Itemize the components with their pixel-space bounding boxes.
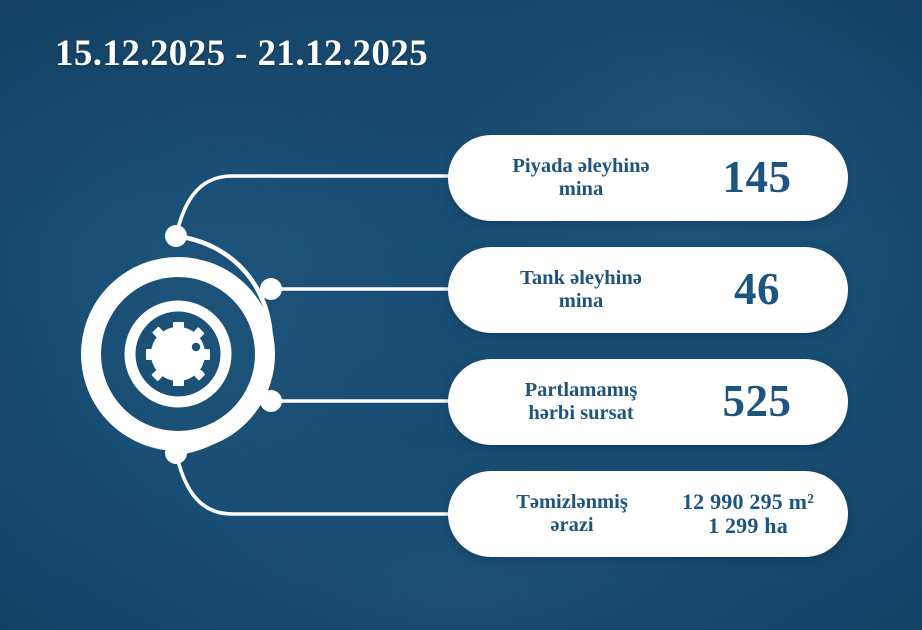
connector-line-1 <box>176 176 452 236</box>
stat-card-cleared-territory: Təmizlənmiş ərazi 12 990 295 m² 1 299 ha <box>448 471 848 557</box>
stat-card-value: 145 <box>688 153 826 203</box>
stat-card-unexploded-ordnance: Partlamamış hərbi sursat 525 <box>448 359 848 445</box>
infographic-canvas: 15.12.2025 - 21.12.2025 <box>0 0 922 630</box>
stat-card-anti-personnel-mine: Piyada əleyhinə mina 145 <box>448 135 848 221</box>
connector-dot-4 <box>165 442 187 464</box>
stat-card-label: Partlamamış hərbi sursat <box>474 379 688 425</box>
stat-card-label: Piyada əleyhinə mina <box>474 155 688 201</box>
stat-card-label: Tank əleyhinə mina <box>474 267 688 313</box>
stat-card-anti-tank-mine: Tank əleyhinə mina 46 <box>448 247 848 333</box>
stat-card-value: 525 <box>688 377 826 427</box>
landmine-icon <box>91 267 265 441</box>
connector-line-4 <box>176 453 452 514</box>
connector-dot-1 <box>165 225 187 247</box>
stat-card-value: 46 <box>688 265 826 315</box>
stat-card-label: Təmizlənmiş ərazi <box>474 491 670 537</box>
connector-dot-2 <box>260 278 282 300</box>
connector-dot-3 <box>260 390 282 412</box>
stat-card-value: 12 990 295 m² 1 299 ha <box>670 490 826 538</box>
